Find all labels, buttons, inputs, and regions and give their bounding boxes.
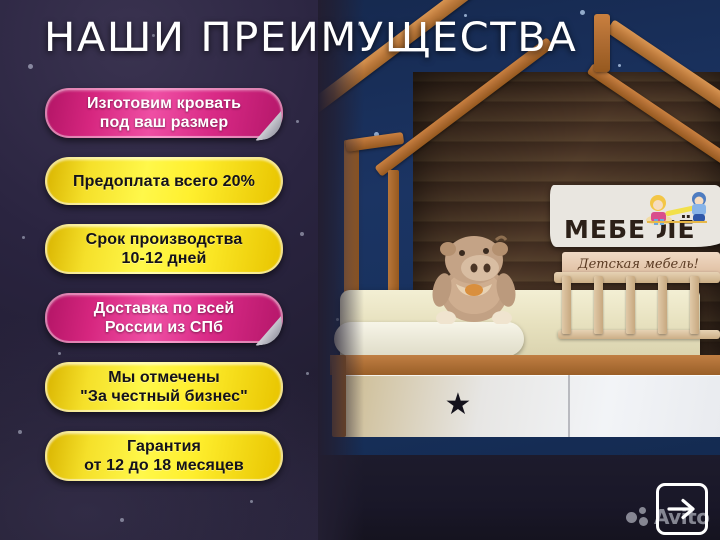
background-star xyxy=(250,500,253,503)
background-star xyxy=(18,430,22,434)
advantage-badge-5[interactable]: Мы отмечены "За честный бизнес" xyxy=(45,362,283,412)
advantage-badge-6-label: Гарантия от 12 до 18 месяцев xyxy=(84,437,244,475)
next-button[interactable] xyxy=(656,483,708,535)
bed-rail-post xyxy=(626,276,635,334)
page-title: НАШИ ПРЕИМУЩЕСТВА xyxy=(44,16,577,60)
background-star xyxy=(22,236,25,239)
advantage-badge-4-label: Доставка по всей России из СПб xyxy=(94,299,235,337)
advantage-badge-2-label: Предоплата всего 20% xyxy=(73,172,255,191)
wall-star xyxy=(618,64,621,67)
bed-rail-post xyxy=(658,276,667,334)
advantage-badge-6-line1: Гарантия xyxy=(84,437,244,456)
advantage-badge-3-label: Срок производства 10-12 дней xyxy=(86,230,243,268)
advantages-list: Изготовим кровать под ваш размер Предопл… xyxy=(45,88,285,500)
plush-toy-icon xyxy=(426,232,522,324)
badge-curl-corner xyxy=(251,316,284,346)
advantage-badge-3-line1: Срок производства xyxy=(86,230,243,249)
background-star xyxy=(300,232,304,236)
advantage-badge-3-line2: 10-12 дней xyxy=(86,249,243,268)
advantage-badge-2-line1: Предоплата всего 20% xyxy=(73,172,255,191)
advantage-badge-4-line1: Доставка по всей xyxy=(94,299,235,318)
avito-logo-icon xyxy=(626,507,652,527)
product-photo: МЕБЕ ЛЁ Детская мебель! xyxy=(318,0,720,540)
bed-rail-post xyxy=(594,276,603,334)
advantage-badge-5-label: Мы отмечены "За честный бизнес" xyxy=(80,368,248,406)
badge-curl-corner xyxy=(251,111,284,141)
bed-frame-rail xyxy=(330,355,720,375)
brand-sign: МЕБЕ ЛЁ xyxy=(550,185,720,247)
background-star xyxy=(296,120,299,123)
arrow-right-icon xyxy=(667,498,697,520)
roof-ridge-connector xyxy=(594,14,610,72)
drawer-front xyxy=(336,375,720,437)
advantage-badge-6-line2: от 12 до 18 месяцев xyxy=(84,456,244,475)
advantage-badge-1-line1: Изготовим кровать xyxy=(87,94,241,113)
background-star xyxy=(120,518,124,522)
kids-illustration-icon xyxy=(637,186,717,228)
advantage-badge-3[interactable]: Срок производства 10-12 дней xyxy=(45,224,283,274)
advantage-badge-1-line2: под ваш размер xyxy=(87,113,241,132)
background-star xyxy=(28,64,33,69)
bed-rail-post xyxy=(562,276,571,334)
background-star xyxy=(306,372,309,375)
advantage-badge-1[interactable]: Изготовим кровать под ваш размер xyxy=(45,88,283,138)
advantage-badge-1-label: Изготовим кровать под ваш размер xyxy=(87,94,241,132)
photo-left-fade xyxy=(318,0,364,540)
advantage-badge-4[interactable]: Доставка по всей России из СПб xyxy=(45,293,283,343)
advantage-badge-6[interactable]: Гарантия от 12 до 18 месяцев xyxy=(45,431,283,481)
advantage-badge-5-line2: "За честный бизнес" xyxy=(80,387,248,406)
advertisement-image: МЕБЕ ЛЁ Детская мебель! xyxy=(0,0,720,540)
advantage-badge-4-line2: России из СПб xyxy=(94,318,235,337)
wall-star xyxy=(580,10,585,15)
advantage-badge-2[interactable]: Предоплата всего 20% xyxy=(45,157,283,205)
bed-rail-post xyxy=(690,276,699,334)
brand-banner-text: Детская мебель! xyxy=(578,257,699,272)
drawer-star-handle: ★ xyxy=(443,390,473,420)
drawer-divider xyxy=(568,375,570,437)
advantage-badge-5-line1: Мы отмечены xyxy=(80,368,248,387)
